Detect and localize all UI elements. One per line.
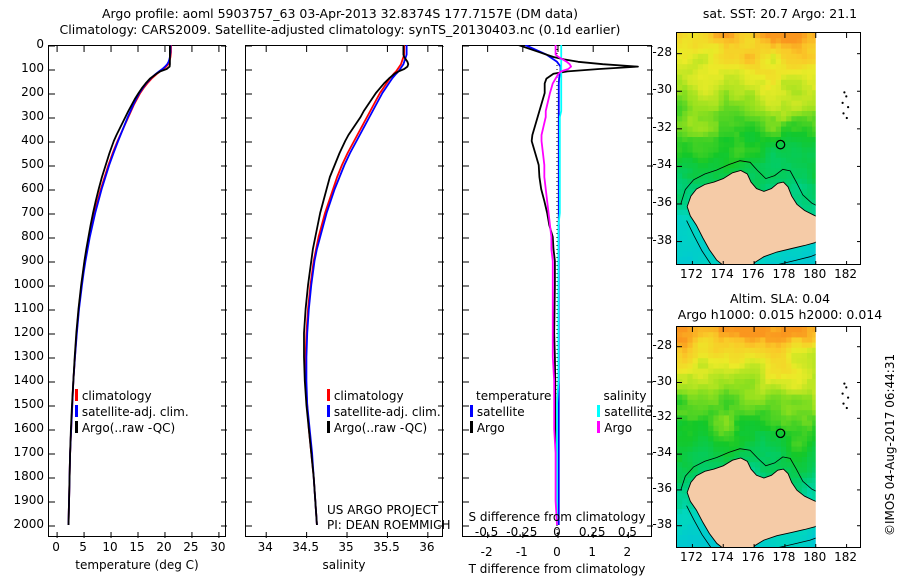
sal-xtick-4: 36 — [405, 540, 449, 554]
salinity-legend-item: satellite-adj. clim. — [327, 404, 441, 420]
island-speck — [845, 386, 847, 388]
depth-tick-6: 600 — [0, 181, 44, 195]
island-speck — [846, 117, 848, 119]
island-speck — [842, 403, 844, 405]
temperature-axis-label: temperature (deg C) — [48, 558, 226, 572]
difference-s-axis-label: S difference from climatology — [452, 510, 662, 524]
legend-label: climatology — [330, 389, 404, 403]
no-data-region — [816, 327, 861, 548]
island-speck — [847, 397, 849, 399]
sst-lat-tick-2: -32 — [640, 120, 672, 134]
map-field — [677, 33, 861, 265]
sst-lat-tick-0: -28 — [640, 45, 672, 59]
depth-tick-5: 500 — [0, 157, 44, 171]
diff-legend-header: salinity — [597, 388, 652, 404]
island-speck — [842, 102, 844, 104]
plot-title-line1: Argo profile: aoml 5903757_63 03-Apr-201… — [0, 6, 680, 21]
depth-tick-20: 2000 — [0, 517, 44, 531]
sst-lat-tick-5: -38 — [640, 233, 672, 247]
temperature-profile-plot — [48, 45, 226, 537]
sst-lat-tick-1: -30 — [640, 82, 672, 96]
depth-tick-8: 800 — [0, 229, 44, 243]
no-data-region — [816, 33, 861, 265]
sst-map — [676, 32, 861, 265]
legend-label: climatology — [78, 389, 152, 403]
imos-credit: ©IMOS 04-Aug-2017 06:44:31 — [883, 354, 897, 536]
legend-label: Argo(..raw -QC) — [330, 421, 427, 435]
sla-lat-tick-0: -28 — [640, 338, 672, 352]
depth-tick-12: 1200 — [0, 325, 44, 339]
sal-xtick-3: 35.5 — [364, 540, 408, 554]
series-climatology — [69, 45, 171, 525]
sal-xtick-0: 34 — [243, 540, 287, 554]
temperature-legend-item: Argo(..raw -QC) — [75, 420, 189, 436]
diff-legend-header: temperature — [470, 388, 551, 404]
depth-tick-1: 100 — [0, 61, 44, 75]
legend-label: Argo — [600, 421, 632, 435]
salinity-legend-item: climatology — [327, 388, 441, 404]
depth-tick-2: 200 — [0, 85, 44, 99]
depth-tick-3: 300 — [0, 109, 44, 123]
legend-label: satellite-adj. clim. — [78, 405, 189, 419]
diff-legend-column-temperature: temperature satellite Argo — [470, 388, 551, 436]
temperature-legend: climatology satellite-adj. clim. Argo(..… — [75, 388, 189, 436]
depth-tick-14: 1400 — [0, 373, 44, 387]
series-climatology — [306, 45, 405, 525]
plot-title-line2: Climatology: CARS2009. Satellite-adjuste… — [0, 22, 680, 37]
series-argo-raw-qc- — [304, 45, 408, 525]
sal-xtick-2: 35 — [324, 540, 368, 554]
series-argo-raw-qc- — [69, 45, 170, 525]
temperature-legend-item: climatology — [75, 388, 189, 404]
salinity-legend: climatology satellite-adj. clim. Argo(..… — [327, 388, 441, 436]
salinity-axis-label: salinity — [245, 558, 443, 572]
depth-tick-7: 700 — [0, 205, 44, 219]
series-satellite-adj-clim- — [306, 45, 406, 525]
island-speck — [843, 91, 845, 93]
series-satellite-adj-clim- — [69, 45, 171, 525]
legend-label: Argo(..raw -QC) — [78, 421, 175, 435]
depth-tick-15: 1500 — [0, 397, 44, 411]
island-speck — [846, 407, 848, 409]
series-salinity-argo — [542, 45, 572, 525]
island-speck — [845, 95, 847, 97]
legend-label: satellite-adj. clim. — [330, 405, 441, 419]
island-speck — [843, 383, 845, 385]
depth-tick-16: 1600 — [0, 421, 44, 435]
legend-label: Argo — [473, 421, 505, 435]
series-temperature-argo — [518, 45, 638, 525]
map-field — [677, 327, 861, 548]
salinity-legend-item: Argo(..raw -QC) — [327, 420, 441, 436]
sla-map — [676, 326, 861, 548]
depth-tick-11: 1100 — [0, 301, 44, 315]
temperature-legend-item: satellite-adj. clim. — [75, 404, 189, 420]
sla-lat-tick-3: -34 — [640, 445, 672, 459]
legend-label: satellite — [473, 405, 525, 419]
depth-tick-18: 1800 — [0, 469, 44, 483]
depth-tick-0: 0 — [0, 37, 44, 51]
island-speck — [847, 106, 849, 108]
diff-legend-item: Argo — [470, 420, 551, 436]
difference-legend: temperature satellite Argosalinity satel… — [470, 388, 652, 436]
sla-lat-tick-4: -36 — [640, 481, 672, 495]
sal-xtick-1: 34.5 — [284, 540, 328, 554]
project-name: US ARGO PROJECT — [327, 503, 438, 517]
temp-xtick-6: 30 — [196, 540, 240, 554]
salinity-profile-plot — [245, 45, 443, 537]
depth-tick-17: 1700 — [0, 445, 44, 459]
island-speck — [842, 112, 844, 114]
island-speck — [842, 393, 844, 395]
depth-tick-13: 1300 — [0, 349, 44, 363]
sla-lon-tick-5: 182 — [824, 550, 868, 564]
sla-lat-tick-1: -30 — [640, 374, 672, 388]
sst-lon-tick-5: 182 — [824, 267, 868, 281]
project-pi: PI: DEAN ROEMMICH — [327, 518, 450, 532]
sst-lat-tick-4: -36 — [640, 195, 672, 209]
difference-t-axis-label: T difference from climatology — [452, 562, 662, 576]
diff-legend-item: satellite — [470, 404, 551, 420]
depth-tick-9: 900 — [0, 253, 44, 267]
sla-lat-tick-2: -32 — [640, 409, 672, 423]
sla-map-subtitle: Argo h1000: 0.015 h2000: 0.014 — [655, 307, 900, 322]
sla-map-title: Altim. SLA: 0.04 — [660, 291, 900, 306]
depth-tick-4: 400 — [0, 133, 44, 147]
difference-profile-plot — [462, 45, 652, 537]
depth-tick-10: 1000 — [0, 277, 44, 291]
depth-tick-19: 1900 — [0, 493, 44, 507]
tdiff-xtick-4: 2 — [605, 545, 649, 559]
sla-lat-tick-5: -38 — [640, 517, 672, 531]
sst-lat-tick-3: -34 — [640, 157, 672, 171]
sst-map-title: sat. SST: 20.7 Argo: 21.1 — [660, 6, 900, 21]
